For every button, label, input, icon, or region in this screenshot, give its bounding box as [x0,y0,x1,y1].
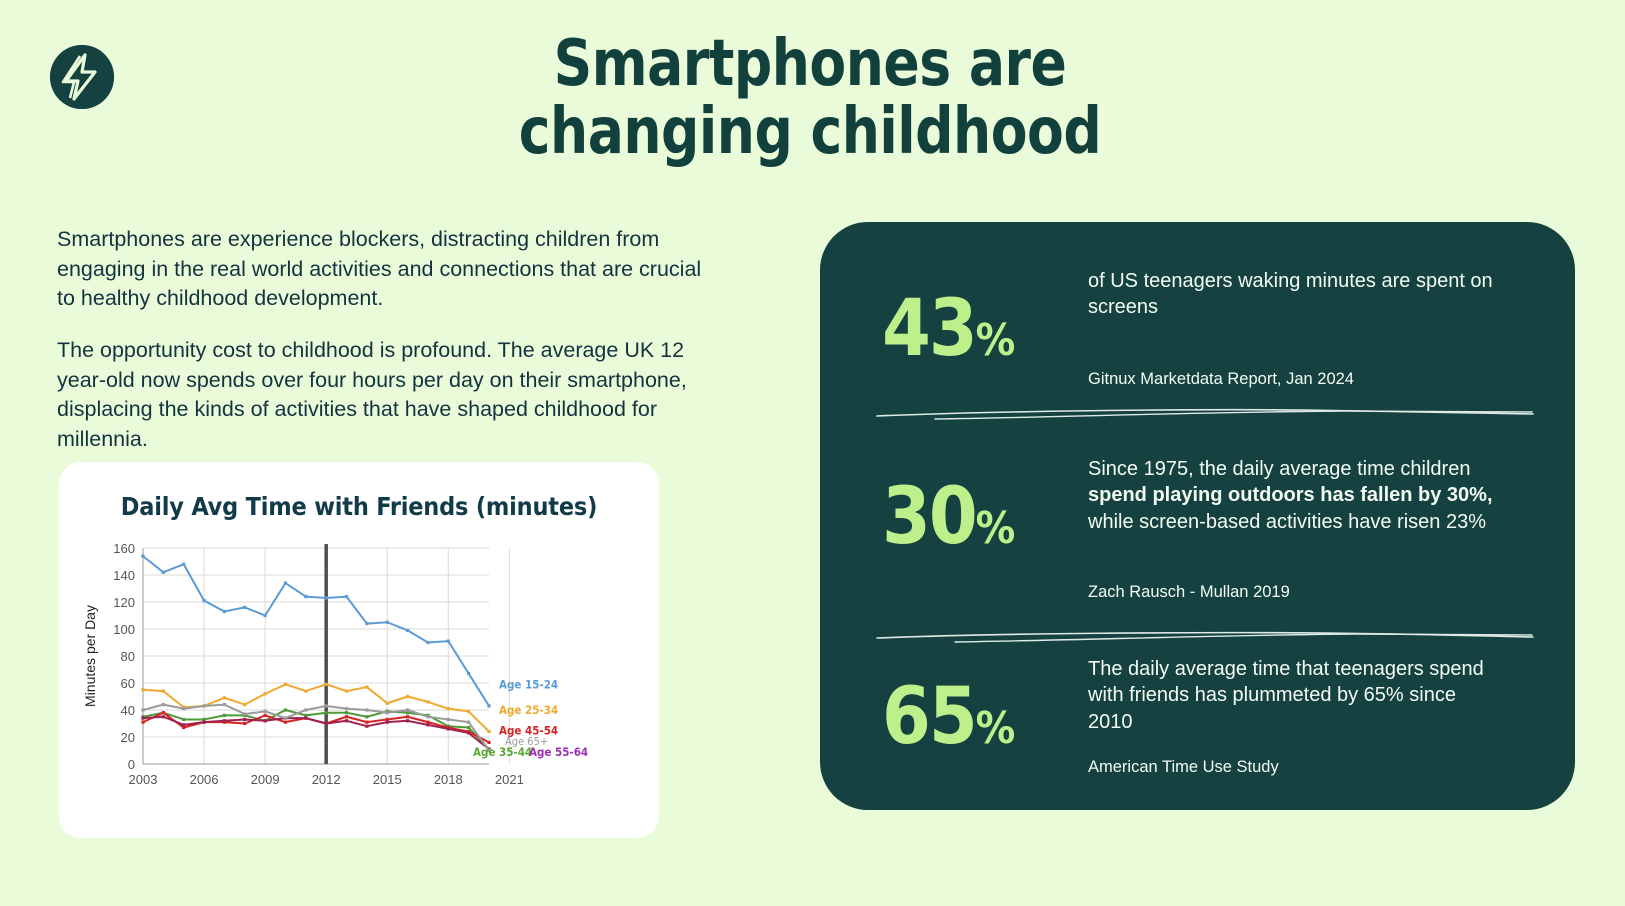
brand-logo [50,45,114,109]
page-title-line-2: changing childhood [364,98,1257,166]
svg-text:100: 100 [113,622,135,637]
svg-text:2021: 2021 [495,772,524,787]
hand-drawn-divider-icon [875,407,1535,421]
svg-text:Age 15-24: Age 15-24 [499,677,558,691]
svg-text:40: 40 [121,703,135,718]
svg-text:2015: 2015 [373,772,402,787]
section-divider [875,407,1535,421]
section-divider [875,630,1535,644]
stat-percent-sign: % [976,315,1015,366]
chart-title: Daily Avg Time with Friends (minutes) [59,492,659,521]
stat-number: 43% [882,290,1014,368]
svg-text:0: 0 [128,757,135,772]
page-title-line-1: Smartphones are [364,30,1257,98]
svg-text:2012: 2012 [312,772,341,787]
stat-number: 65% [882,678,1014,756]
svg-text:60: 60 [121,676,135,691]
page-title: Smartphones are changing childhood [364,30,1257,167]
svg-text:2003: 2003 [129,772,158,787]
stat-body-pre: of US teenagers waking minutes are spent… [1088,270,1493,318]
stat-body: Since 1975, the daily average time child… [1088,456,1518,535]
svg-text:Minutes per Day: Minutes per Day [82,605,98,707]
svg-text:2009: 2009 [251,772,280,787]
stats-panel: 43% of US teenagers waking minutes are s… [820,222,1575,810]
stat-source: American Time Use Study [1088,758,1279,777]
stat-source: Zach Rausch - Mullan 2019 [1088,583,1290,602]
stat-number-value: 65 [882,672,976,762]
stat-body-pre: The daily average time that teenagers sp… [1088,658,1484,733]
intro-paragraph-2: The opportunity cost to childhood is pro… [57,336,722,455]
lightning-bolt-icon [50,45,114,109]
stat-body-post: while screen-based activities have risen… [1088,511,1486,533]
svg-text:120: 120 [113,595,135,610]
svg-text:140: 140 [113,568,135,583]
svg-text:Age 55-64: Age 55-64 [529,745,588,759]
stat-body: The daily average time that teenagers sp… [1088,656,1488,735]
stat-source: Gitnux Marketdata Report, Jan 2024 [1088,370,1354,389]
svg-text:20: 20 [121,730,135,745]
stat-percent-sign: % [976,503,1015,554]
stat-body: of US teenagers waking minutes are spent… [1088,268,1508,321]
line-chart: 0204060801001201401602003200620092012201… [69,536,649,822]
svg-text:80: 80 [121,649,135,664]
chart-card: Daily Avg Time with Friends (minutes) 02… [59,462,659,838]
stat-number-value: 30 [882,472,976,562]
stat-number: 30% [882,478,1014,556]
svg-text:2006: 2006 [190,772,219,787]
svg-text:160: 160 [113,541,135,556]
svg-text:2018: 2018 [434,772,463,787]
stat-body-bold: spend playing outdoors has fallen by 30%… [1088,484,1493,506]
hand-drawn-divider-icon [875,630,1535,644]
stat-percent-sign: % [976,703,1015,754]
intro-copy: Smartphones are experience blockers, dis… [57,225,722,455]
svg-text:Age 35-44: Age 35-44 [473,745,532,759]
stat-number-value: 43 [882,284,976,374]
svg-text:Age 25-34: Age 25-34 [499,703,558,717]
stat-body-pre: Since 1975, the daily average time child… [1088,458,1470,480]
intro-paragraph-1: Smartphones are experience blockers, dis… [57,225,722,314]
